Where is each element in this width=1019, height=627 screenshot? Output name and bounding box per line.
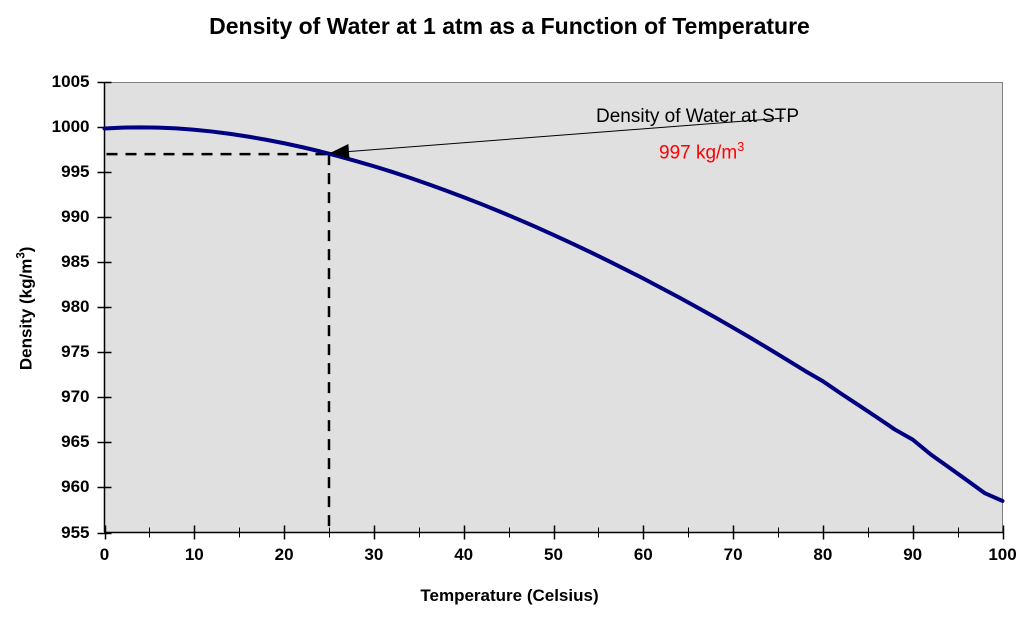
y-tick-label: 960 xyxy=(30,477,90,497)
x-tick-label: 60 xyxy=(613,545,673,565)
annotation-stp-value: 997 kg/m3 xyxy=(659,139,744,164)
y-tick-label: 980 xyxy=(30,297,90,317)
y-tick-label: 1000 xyxy=(30,117,90,137)
x-tick-label: 80 xyxy=(793,545,853,565)
annotation-stp-label: Density of Water at STP xyxy=(596,106,799,128)
y-axis-title: Density (kg/m3) xyxy=(16,198,37,418)
y-axis-title-superscript: 3 xyxy=(16,252,28,258)
plot-area-background xyxy=(104,82,1003,532)
x-tick-label: 10 xyxy=(164,545,224,565)
x-tick-label: 50 xyxy=(524,545,584,565)
x-tick-label: 90 xyxy=(883,545,943,565)
plot-canvas xyxy=(0,0,1019,627)
y-axis-title-base: Density (kg/m xyxy=(16,259,35,370)
x-axis-title: Temperature (Celsius) xyxy=(0,586,1019,606)
x-tick-label: 40 xyxy=(434,545,494,565)
annotation-value-number: 997 xyxy=(659,142,691,163)
chart-figure: Density of Water at 1 atm as a Function … xyxy=(0,0,1019,627)
annotation-value-unit-superscript: 3 xyxy=(737,139,744,154)
y-tick-label: 995 xyxy=(30,162,90,182)
y-tick-label: 1005 xyxy=(30,72,90,92)
x-tick-label: 0 xyxy=(75,545,135,565)
x-tick-label: 20 xyxy=(254,545,314,565)
y-axis-title-tail: ) xyxy=(16,247,35,253)
y-tick-label: 955 xyxy=(30,523,90,543)
y-tick-label: 965 xyxy=(30,432,90,452)
annotation-value-unit: kg/m xyxy=(691,142,737,163)
x-tick-label: 100 xyxy=(973,545,1019,565)
y-tick-label: 975 xyxy=(30,342,90,362)
x-tick-label: 30 xyxy=(344,545,404,565)
y-tick-label: 970 xyxy=(30,387,90,407)
y-tick-label: 985 xyxy=(30,252,90,272)
x-tick-label: 70 xyxy=(703,545,763,565)
y-tick-label: 990 xyxy=(30,207,90,227)
